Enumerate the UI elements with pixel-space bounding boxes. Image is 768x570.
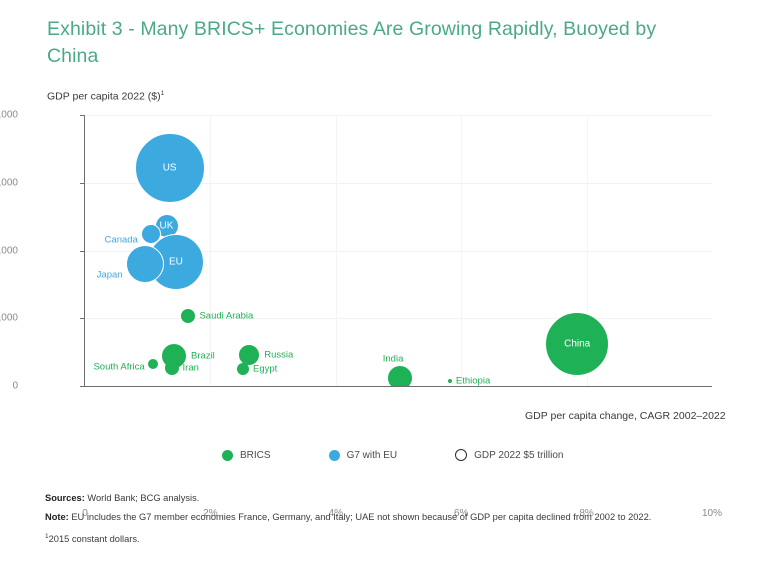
sources-text: World Bank; BCG analysis. [85,493,200,503]
y-axis-title-text: GDP per capita 2022 ($) [47,91,161,103]
y-axis-tick-label: 60,000 [0,177,18,188]
gridline-horizontal [85,115,712,116]
bubble-india[interactable] [387,365,413,386]
page-title: Exhibit 3 - Many BRICS+ Economies Are Gr… [47,16,667,70]
plot-area: USUKCanadaEUJapanChinaSaudi ArabiaBrazil… [85,115,712,386]
bubble-label-eu: EU [169,257,183,268]
bubble-label-uk: UK [160,221,174,232]
bubble-japan[interactable] [126,245,164,283]
gridline-horizontal [85,318,712,319]
bubble-label-japan: Japan [97,269,123,280]
y-axis-tick-mark [80,115,85,116]
bubble-iran[interactable] [165,361,179,375]
gridline-vertical [210,115,211,386]
sources-line: Sources: World Bank; BCG analysis. [45,489,745,508]
plot-wrapper: USUKCanadaEUJapanChinaSaudi ArabiaBrazil… [85,115,712,386]
y-axis-tick-label: 80,000 [0,110,18,121]
x-axis-line [84,386,712,387]
legend-item-g7[interactable]: G7 with EU [329,450,398,461]
gridline-vertical [461,115,462,386]
legend-label-brics: BRICS [240,450,271,461]
note-label: Note: [45,512,69,522]
bubble-label-south-africa: South Africa [93,361,144,372]
legend: BRICS G7 with EU GDP 2022 $5 trillion [222,449,563,461]
bubble-egypt[interactable] [237,363,249,375]
bubble-south-africa[interactable] [148,359,158,369]
y-axis-tick-mark [80,183,85,184]
y-axis-tick-mark [80,251,85,252]
footnotes: Sources: World Bank; BCG analysis. Note:… [45,489,745,549]
y-axis-tick-mark [80,386,85,387]
y-axis-title: GDP per capita 2022 ($)1 [47,90,164,103]
bubble-label-iran: Iran [183,363,199,374]
x-axis-title: GDP per capita change, CAGR 2002–2022 [525,410,726,422]
note-text: EU includes the G7 member economies Fran… [69,512,652,522]
brics-circle-icon [222,450,233,461]
bubble-label-ethiopia: Ethiopia [456,376,490,386]
bubble-label-us: US [163,162,177,173]
bubble-label-egypt: Egypt [253,364,277,375]
sources-label: Sources: [45,493,85,503]
bubble-label-india: India [383,354,404,365]
bubble-label-china: China [564,338,590,349]
open-circle-icon [455,449,467,461]
legend-label-size-reference: GDP 2022 $5 trillion [474,450,563,461]
chart-page: Exhibit 3 - Many BRICS+ Economies Are Gr… [0,0,768,570]
bubble-label-saudi-arabia: Saudi Arabia [199,311,253,322]
legend-item-size-reference[interactable]: GDP 2022 $5 trillion [455,449,563,461]
legend-label-g7: G7 with EU [347,450,398,461]
footnote-line: 12015 constant dollars. [45,527,745,549]
bubble-saudi-arabia[interactable] [181,309,195,323]
y-axis-tick-label: 0 [12,381,18,392]
legend-item-brics[interactable]: BRICS [222,450,271,461]
y-axis-tick-label: 40,000 [0,245,18,256]
gridline-vertical [336,115,337,386]
bubble-label-brazil: Brazil [191,350,215,361]
bubble-ethiopia[interactable] [448,379,452,383]
note-line: Note: EU includes the G7 member economie… [45,508,745,527]
bubble-label-russia: Russia [264,349,293,360]
g7-circle-icon [329,450,340,461]
y-axis-tick-mark [80,318,85,319]
y-axis-title-superscript: 1 [161,90,165,97]
bubble-label-canada: Canada [105,234,138,245]
y-axis-tick-label: 20,000 [0,313,18,324]
footnote-text: 2015 constant dollars. [49,534,140,544]
